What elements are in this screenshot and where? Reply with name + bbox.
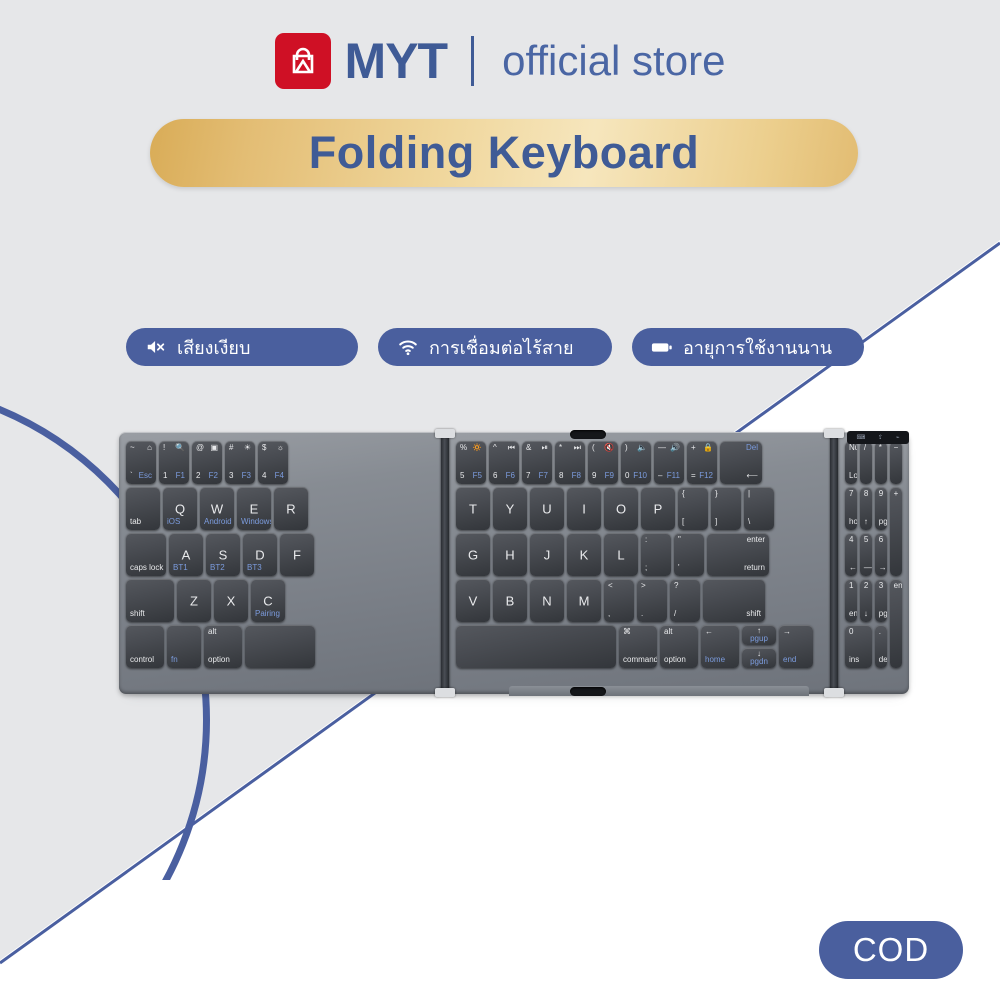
key-legend: end bbox=[849, 610, 857, 618]
brand-header: MYT official store bbox=[0, 26, 1000, 96]
keyboard-key-\[interactable]: |\ bbox=[744, 487, 774, 530]
key-legend: ⌘ bbox=[623, 628, 631, 636]
key-legend: + bbox=[894, 490, 899, 498]
key-legend: N bbox=[542, 594, 551, 607]
feature-badge-wireless: การเชื่อมต่อไร้สาย bbox=[378, 328, 612, 366]
key-legend: − bbox=[894, 444, 899, 452]
keyboard-key-t[interactable]: T bbox=[456, 487, 490, 530]
key-legend: < bbox=[608, 582, 613, 590]
key-legend: ( bbox=[592, 444, 595, 452]
keyboard-key-/[interactable]: ?/ bbox=[670, 579, 700, 622]
keyboard-key-option[interactable]: altoption bbox=[660, 625, 698, 668]
key-legend: * bbox=[879, 444, 882, 452]
key-legend: 🔍 bbox=[175, 444, 185, 452]
page-title: Folding Keyboard bbox=[309, 127, 700, 179]
key-legend: 8 bbox=[864, 490, 868, 498]
numpad-key-2[interactable]: 2↓ bbox=[860, 579, 872, 622]
key-legend: 0 bbox=[625, 472, 629, 480]
key-legend: = bbox=[691, 472, 696, 480]
key-legend: del bbox=[879, 656, 887, 664]
key-legend: . bbox=[879, 628, 881, 636]
keyboard-key-0[interactable]: )0🔈F10 bbox=[621, 441, 651, 484]
key-legend: return bbox=[744, 564, 765, 572]
keyboard-foot-bar bbox=[509, 686, 809, 696]
key-legend: ☀ bbox=[244, 444, 251, 452]
key-legend: 4 bbox=[849, 536, 853, 544]
keyboard-key-caps-lock[interactable]: caps lock bbox=[126, 533, 166, 576]
keyboard-key-3[interactable]: #3☀F3 bbox=[225, 441, 255, 484]
keyboard-key-space[interactable] bbox=[456, 625, 616, 668]
wifi-icon bbox=[396, 335, 420, 359]
key-legend: [ bbox=[682, 518, 684, 526]
key-legend: → bbox=[879, 564, 887, 572]
key-legend: 2 bbox=[196, 472, 200, 480]
keyboard-key-7[interactable]: &7⏯F7 bbox=[522, 441, 552, 484]
led-indicator-icon: ⌁ bbox=[896, 435, 900, 441]
numpad-key-/[interactable]: / bbox=[860, 441, 872, 484]
keyboard-key-4[interactable]: $4☼F4 bbox=[258, 441, 288, 484]
key-legend: command bbox=[623, 656, 657, 664]
keyboard-key-option[interactable]: altoption bbox=[204, 625, 242, 668]
key-legend: P bbox=[654, 502, 663, 515]
key-legend: 7 bbox=[526, 472, 530, 480]
numpad-key-7[interactable]: 7home bbox=[845, 487, 857, 530]
keyboard-key-f[interactable]: F bbox=[280, 533, 314, 576]
key-legend: fn bbox=[171, 656, 178, 664]
keyboard-key-shift[interactable]: shift bbox=[126, 579, 174, 622]
key-legend: " bbox=[678, 536, 681, 544]
key-legend: 9 bbox=[879, 490, 883, 498]
keyboard-key-i[interactable]: I bbox=[567, 487, 601, 530]
key-legend: alt bbox=[664, 628, 672, 636]
key-legend: Num bbox=[849, 444, 857, 452]
keyboard-key-pgup[interactable]: ↑pgup bbox=[742, 625, 776, 645]
key-legend: ☼ bbox=[277, 444, 284, 452]
keyboard-key-b[interactable]: B bbox=[493, 579, 527, 622]
key-legend: X bbox=[227, 594, 236, 607]
key-legend: / bbox=[674, 610, 676, 618]
keyboard-key-.[interactable]: >. bbox=[637, 579, 667, 622]
keyboard-key-c[interactable]: CPairing bbox=[251, 579, 285, 622]
key-legend: \ bbox=[748, 518, 750, 526]
key-legend: pgup bbox=[750, 635, 768, 643]
keyboard-key-fn[interactable]: fn bbox=[167, 625, 201, 668]
key-legend: 🔅 bbox=[472, 444, 482, 452]
key-legend: ⏮ bbox=[508, 444, 515, 452]
keyboard-panel-left: ~`⌂Esc!1🔍F1@2▣F2#3☀F3$4☼F4tabQiOSWAndroi… bbox=[119, 432, 442, 694]
key-legend: BT1 bbox=[173, 564, 188, 572]
keyboard-key-2[interactable]: @2▣F2 bbox=[192, 441, 222, 484]
keyboard-key-e[interactable]: EWindows bbox=[237, 487, 271, 530]
key-legend: J bbox=[544, 548, 551, 561]
key-legend: F9 bbox=[605, 472, 614, 480]
numpad-key-5[interactable]: 5— bbox=[860, 533, 872, 576]
key-legend: ⌂ bbox=[147, 444, 152, 452]
key-legend: ? bbox=[674, 582, 678, 590]
keyboard-hinge-left bbox=[441, 434, 449, 692]
key-legend: . bbox=[641, 610, 643, 618]
key-legend: 🔇 bbox=[604, 444, 614, 452]
keyboard-key-1[interactable]: !1🔍F1 bbox=[159, 441, 189, 484]
key-legend: G bbox=[468, 548, 478, 561]
key-legend: ins bbox=[849, 656, 859, 664]
keyboard-key-l[interactable]: L bbox=[604, 533, 638, 576]
key-legend: ↓ bbox=[864, 610, 868, 618]
hinge-cap-icon bbox=[824, 688, 844, 697]
keyboard-key-home[interactable]: ←home bbox=[701, 625, 739, 668]
key-legend: — bbox=[864, 564, 872, 572]
key-legend: F12 bbox=[699, 472, 713, 480]
key-legend: ' bbox=[678, 564, 680, 572]
cod-badge: COD bbox=[819, 921, 963, 979]
key-legend: F5 bbox=[473, 472, 482, 480]
product-title-banner: Folding Keyboard bbox=[150, 119, 858, 187]
key-legend: 1 bbox=[849, 582, 853, 590]
numpad-key-4[interactable]: 4← bbox=[845, 533, 857, 576]
numpad-key-0[interactable]: 0ins bbox=[845, 625, 872, 668]
product-image-canvas: MYT official store Folding Keyboard เสีย… bbox=[0, 0, 1000, 1000]
key-legend: ; bbox=[645, 564, 647, 572]
keyboard-panel-middle: %5🔅F5^6⏮F6&7⏯F7*8⏭F8(9🔇F9)0🔈F10—–🔊F11+=🔒… bbox=[449, 432, 832, 694]
key-legend: M bbox=[579, 594, 590, 607]
key-legend: shift bbox=[130, 610, 145, 618]
key-legend: L bbox=[617, 548, 624, 561]
keyboard-key-w[interactable]: WAndroid bbox=[200, 487, 234, 530]
key-legend: ! bbox=[163, 444, 165, 452]
key-legend: ⏭ bbox=[574, 444, 581, 452]
key-legend: → bbox=[783, 628, 791, 636]
keyboard-key-;[interactable]: :; bbox=[641, 533, 671, 576]
key-legend: U bbox=[542, 502, 551, 515]
keyboard-key-k[interactable]: K bbox=[567, 533, 601, 576]
key-legend: 5 bbox=[460, 472, 464, 480]
key-legend: Pairing bbox=[255, 610, 280, 618]
key-legend: tab bbox=[130, 518, 141, 526]
led-indicator-icon: ⇪ bbox=[878, 435, 883, 441]
key-legend: F2 bbox=[209, 472, 218, 480]
numpad-key-1[interactable]: 1end bbox=[845, 579, 857, 622]
key-legend: F bbox=[293, 548, 301, 561]
key-legend: 🔊 bbox=[670, 444, 680, 452]
key-legend: $ bbox=[262, 444, 266, 452]
key-legend: 4 bbox=[262, 472, 266, 480]
key-legend: I bbox=[582, 502, 586, 515]
key-legend: option bbox=[208, 656, 230, 664]
numpad-key-enter[interactable]: enter bbox=[890, 579, 902, 668]
key-legend: % bbox=[460, 444, 467, 452]
keyboard-key-pgdn[interactable]: ↓pgdn bbox=[742, 648, 776, 668]
key-legend: R bbox=[286, 502, 295, 515]
key-legend: > bbox=[641, 582, 646, 590]
key-legend: shift bbox=[746, 610, 761, 618]
keyboard-key-j[interactable]: J bbox=[530, 533, 564, 576]
keyboard-key-u[interactable]: U bbox=[530, 487, 564, 530]
keyboard-key-s[interactable]: SBT2 bbox=[206, 533, 240, 576]
led-indicator-icon: ⌨ bbox=[856, 435, 865, 441]
key-legend: ` bbox=[130, 472, 133, 480]
key-legend: – bbox=[658, 472, 662, 480]
keyboard-key-6[interactable]: ^6⏮F6 bbox=[489, 441, 519, 484]
numpad-key-−[interactable]: − bbox=[890, 441, 902, 484]
hinge-cap-icon bbox=[435, 688, 455, 697]
key-legend: ▣ bbox=[210, 444, 218, 452]
keyboard-key-–[interactable]: —–🔊F11 bbox=[654, 441, 684, 484]
key-legend: 6 bbox=[879, 536, 883, 544]
key-legend: O bbox=[616, 502, 626, 515]
numpad-key-num[interactable]: NumLock bbox=[845, 441, 857, 484]
key-legend: Del bbox=[746, 444, 758, 452]
key-legend: 5 bbox=[864, 536, 868, 544]
key-legend: ] bbox=[715, 518, 717, 526]
led-indicator-strip: ⌨ ⇪ ⌁ bbox=[847, 431, 909, 444]
key-legend: F1 bbox=[176, 472, 185, 480]
key-legend: { bbox=[682, 490, 685, 498]
key-legend: Y bbox=[506, 502, 515, 515]
key-legend: | bbox=[748, 490, 750, 498]
key-legend: 3 bbox=[229, 472, 233, 480]
key-legend: A bbox=[182, 548, 191, 561]
key-legend: 6 bbox=[493, 472, 497, 480]
key-legend: option bbox=[664, 656, 686, 664]
keyboard-key-⟵[interactable]: Del⟵ bbox=[720, 441, 762, 484]
key-legend: alt bbox=[208, 628, 216, 636]
keyboard-key-end[interactable]: →end bbox=[779, 625, 813, 668]
key-legend: ← bbox=[705, 628, 713, 636]
logo-divider bbox=[471, 36, 474, 86]
key-legend: F4 bbox=[275, 472, 284, 480]
feature-badge-list: เสียงเงียบ การเชื่อมต่อไร้สาย อายุการใ bbox=[126, 328, 864, 366]
key-legend: BT3 bbox=[247, 564, 262, 572]
keyboard-hinge-right bbox=[830, 434, 838, 692]
key-legend: 9 bbox=[592, 472, 596, 480]
key-legend: : bbox=[645, 536, 647, 544]
key-legend: D bbox=[255, 548, 264, 561]
key-legend: Q bbox=[175, 502, 185, 515]
feature-badge-label: เสียงเงียบ bbox=[177, 333, 250, 362]
key-legend: # bbox=[229, 444, 233, 452]
key-legend: home bbox=[849, 518, 857, 526]
key-legend: S bbox=[219, 548, 228, 561]
keyboard-key-tab[interactable]: tab bbox=[126, 487, 160, 530]
keyboard-key-shift[interactable]: shift bbox=[703, 579, 765, 622]
key-legend: F11 bbox=[667, 472, 680, 480]
key-legend: ^ bbox=[493, 444, 497, 452]
key-legend: F7 bbox=[539, 472, 548, 480]
key-legend: W bbox=[211, 502, 223, 515]
keyboard-panel-numpad: NumLock/*−7home8↑9pgup+4←5—6→1end2↓3pgdn… bbox=[838, 432, 909, 694]
key-legend: ~ bbox=[130, 444, 135, 452]
key-legend: & bbox=[526, 444, 531, 452]
keyboard-key-r[interactable]: R bbox=[274, 487, 308, 530]
key-legend: Lock bbox=[849, 472, 857, 480]
usb-c-port-icon bbox=[570, 430, 606, 439]
keyboard-key-,[interactable]: <, bbox=[604, 579, 634, 622]
keyboard-key-][interactable]: }] bbox=[711, 487, 741, 530]
keyboard-key-y[interactable]: Y bbox=[493, 487, 527, 530]
keyboard-key-9[interactable]: (9🔇F9 bbox=[588, 441, 618, 484]
key-legend: * bbox=[559, 444, 562, 452]
key-legend: K bbox=[580, 548, 589, 561]
key-legend: 8 bbox=[559, 472, 563, 480]
key-legend: 3 bbox=[879, 582, 883, 590]
key-legend: pgup bbox=[879, 518, 887, 526]
key-legend: T bbox=[469, 502, 477, 515]
keyboard-key-o[interactable]: O bbox=[604, 487, 638, 530]
feature-badge-label: การเชื่อมต่อไร้สาย bbox=[429, 333, 574, 362]
key-legend: E bbox=[250, 502, 259, 515]
numpad-key-*[interactable]: * bbox=[875, 441, 887, 484]
key-legend: Android bbox=[204, 518, 232, 526]
key-legend: pgdn bbox=[879, 610, 887, 618]
keyboard-key-q[interactable]: QiOS bbox=[163, 487, 197, 530]
key-legend: end bbox=[783, 656, 796, 664]
keyboard-key-g[interactable]: G bbox=[456, 533, 490, 576]
key-legend: V bbox=[469, 594, 478, 607]
key-legend: F6 bbox=[506, 472, 515, 480]
key-legend: 🔒 bbox=[703, 444, 713, 452]
key-legend: 0 bbox=[849, 628, 853, 636]
numpad-key-9[interactable]: 9pgup bbox=[875, 487, 887, 530]
keyboard-key-space[interactable] bbox=[245, 625, 315, 668]
key-legend: Z bbox=[190, 594, 198, 607]
usb-c-port-icon bbox=[570, 687, 606, 696]
key-legend: / bbox=[864, 444, 866, 452]
key-legend: ⏯ bbox=[542, 444, 548, 452]
numpad-key-8[interactable]: 8↑ bbox=[860, 487, 872, 530]
numpad-key-.[interactable]: .del bbox=[875, 625, 887, 668]
keyboard-key-d[interactable]: DBT3 bbox=[243, 533, 277, 576]
key-legend: , bbox=[608, 610, 610, 618]
hinge-cap-icon bbox=[824, 429, 844, 438]
key-legend: enter bbox=[894, 582, 902, 590]
key-legend: C bbox=[263, 594, 272, 607]
keyboard-key-`[interactable]: ~`⌂Esc bbox=[126, 441, 156, 484]
numpad-key-+[interactable]: + bbox=[890, 487, 902, 576]
key-legend: } bbox=[715, 490, 718, 498]
keyboard-key-p[interactable]: P bbox=[641, 487, 675, 530]
key-legend: caps lock bbox=[130, 564, 163, 572]
key-legend: ← bbox=[849, 564, 857, 572]
key-legend: 🔈 bbox=[637, 444, 647, 452]
key-legend: + bbox=[691, 444, 696, 452]
key-legend: control bbox=[130, 656, 154, 664]
key-legend: home bbox=[705, 656, 725, 664]
hinge-cap-icon bbox=[435, 429, 455, 438]
key-legend: ↑ bbox=[864, 518, 868, 526]
keyboard-key-m[interactable]: M bbox=[567, 579, 601, 622]
keyboard-key-return[interactable]: enterreturn bbox=[707, 533, 769, 576]
feature-badge-battery: อายุการใช้งานนาน bbox=[632, 328, 864, 366]
key-legend: H bbox=[505, 548, 514, 561]
keyboard-key-5[interactable]: %5🔅F5 bbox=[456, 441, 486, 484]
keyboard-key-a[interactable]: ABT1 bbox=[169, 533, 203, 576]
store-label: official store bbox=[502, 40, 725, 82]
key-legend: B bbox=[506, 594, 515, 607]
keyboard-key-v[interactable]: V bbox=[456, 579, 490, 622]
key-legend: Windows bbox=[241, 518, 271, 526]
key-legend: F3 bbox=[242, 472, 251, 480]
brand-name: MYT bbox=[345, 36, 448, 86]
keyboard-key-=[interactable]: +=🔒F12 bbox=[687, 441, 717, 484]
product-image-folding-keyboard: ~`⌂Esc!1🔍F1@2▣F2#3☀F3$4☼F4tabQiOSWAndroi… bbox=[119, 432, 909, 694]
cod-label: COD bbox=[853, 931, 929, 969]
feature-badge-silent: เสียงเงียบ bbox=[126, 328, 358, 366]
numpad-key-6[interactable]: 6→ bbox=[875, 533, 887, 576]
key-legend: F10 bbox=[633, 472, 647, 480]
key-legend: @ bbox=[196, 444, 204, 452]
keyboard-key-x[interactable]: X bbox=[214, 579, 248, 622]
key-legend: BT2 bbox=[210, 564, 225, 572]
speaker-mute-icon bbox=[144, 335, 168, 359]
myt-bag-logo-icon bbox=[275, 33, 331, 89]
key-legend: 1 bbox=[163, 472, 167, 480]
keyboard-key-[[interactable]: {[ bbox=[678, 487, 708, 530]
key-legend: Esc bbox=[139, 472, 152, 480]
keyboard-key-n[interactable]: N bbox=[530, 579, 564, 622]
key-legend: 7 bbox=[849, 490, 853, 498]
keyboard-key-h[interactable]: H bbox=[493, 533, 527, 576]
keyboard-key-command[interactable]: ⌘command bbox=[619, 625, 657, 668]
key-legend: enter bbox=[747, 536, 765, 544]
battery-icon bbox=[650, 335, 674, 359]
keyboard-key-8[interactable]: *8⏭F8 bbox=[555, 441, 585, 484]
key-legend: F8 bbox=[572, 472, 581, 480]
key-legend: ⟵ bbox=[747, 472, 758, 480]
key-legend: iOS bbox=[167, 518, 180, 526]
numpad-key-3[interactable]: 3pgdn bbox=[875, 579, 887, 622]
feature-badge-label: อายุการใช้งานนาน bbox=[683, 333, 832, 362]
keyboard-key-control[interactable]: control bbox=[126, 625, 164, 668]
key-legend: 2 bbox=[864, 582, 868, 590]
key-legend: — bbox=[658, 444, 666, 452]
keyboard-key-'[interactable]: "' bbox=[674, 533, 704, 576]
key-legend: ) bbox=[625, 444, 628, 452]
key-legend: pgdn bbox=[750, 658, 768, 666]
keyboard-key-z[interactable]: Z bbox=[177, 579, 211, 622]
